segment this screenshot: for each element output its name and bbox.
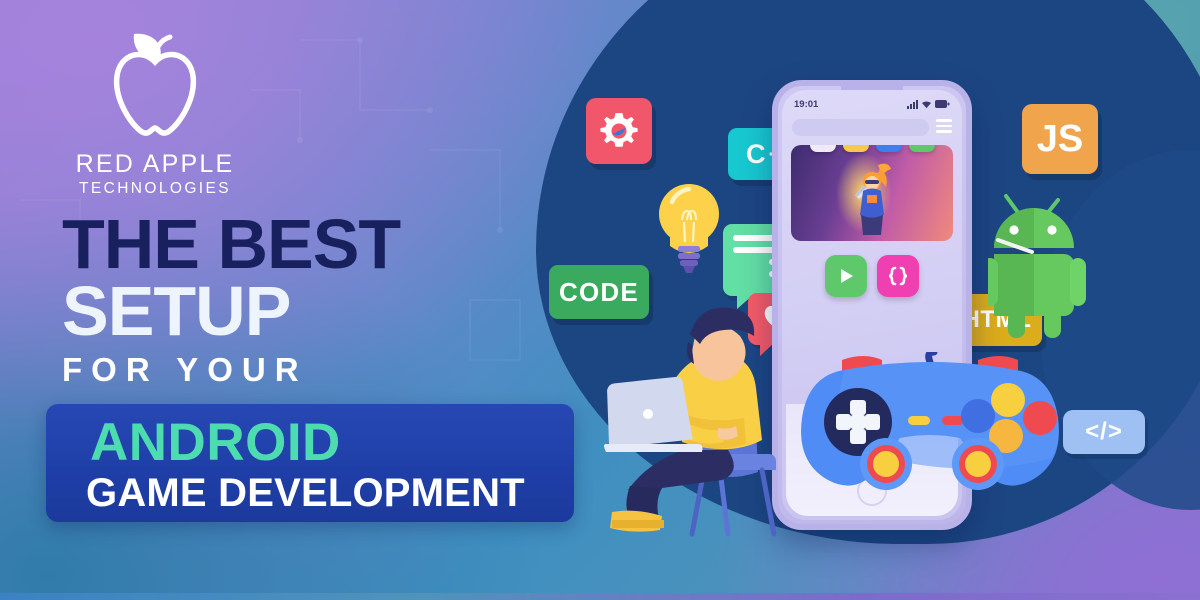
search-input[interactable] <box>792 119 929 136</box>
braces-icon[interactable] <box>877 255 919 297</box>
hamburger-menu-icon[interactable] <box>936 119 952 136</box>
gamepad-icon <box>782 352 1078 522</box>
signal-bars-icon <box>907 100 918 109</box>
bottom-accent-strip <box>0 593 1200 600</box>
game-card[interactable] <box>791 145 953 241</box>
headline-line-3: FOR YOUR <box>62 351 582 389</box>
phone-status-bar: 19:01 <box>782 95 962 113</box>
apple-leaf-logo-icon <box>90 28 220 148</box>
battery-icon <box>935 100 950 108</box>
wifi-icon <box>921 100 932 109</box>
game-app-row <box>791 145 953 152</box>
javascript-icon[interactable]: JS <box>1022 104 1098 174</box>
logo-name-secondary: TECHNOLOGIES <box>60 180 250 198</box>
company-logo[interactable]: RED APPLE TECHNOLOGIES <box>60 28 250 198</box>
headline-line-2: SETUP <box>62 278 582 345</box>
android-robot-icon <box>988 178 1092 338</box>
banner-line-android: ANDROID <box>90 416 574 469</box>
marketing-banner: RED APPLE TECHNOLOGIES THE BEST SETUP FO… <box>0 0 1200 600</box>
skip-icon[interactable] <box>876 145 902 152</box>
window-icon[interactable] <box>843 145 869 152</box>
headline-banner: ANDROID GAME DEVELOPMENT <box>46 404 574 522</box>
play-icon[interactable] <box>825 255 867 297</box>
gear-icon-badge[interactable] <box>586 98 652 164</box>
headline-block: THE BEST SETUP FOR YOUR <box>62 212 582 389</box>
game-hero-character-icon <box>847 155 897 237</box>
play-icon[interactable] <box>909 145 935 152</box>
lightbulb-icon <box>656 176 722 276</box>
headline-line-1: THE BEST <box>62 212 582 276</box>
circle-icon[interactable] <box>810 145 836 152</box>
status-time: 19:01 <box>794 99 818 110</box>
logo-name-primary: RED APPLE <box>60 150 250 179</box>
gear-icon <box>598 110 640 152</box>
banner-line-game-development: GAME DEVELOPMENT <box>86 473 574 513</box>
